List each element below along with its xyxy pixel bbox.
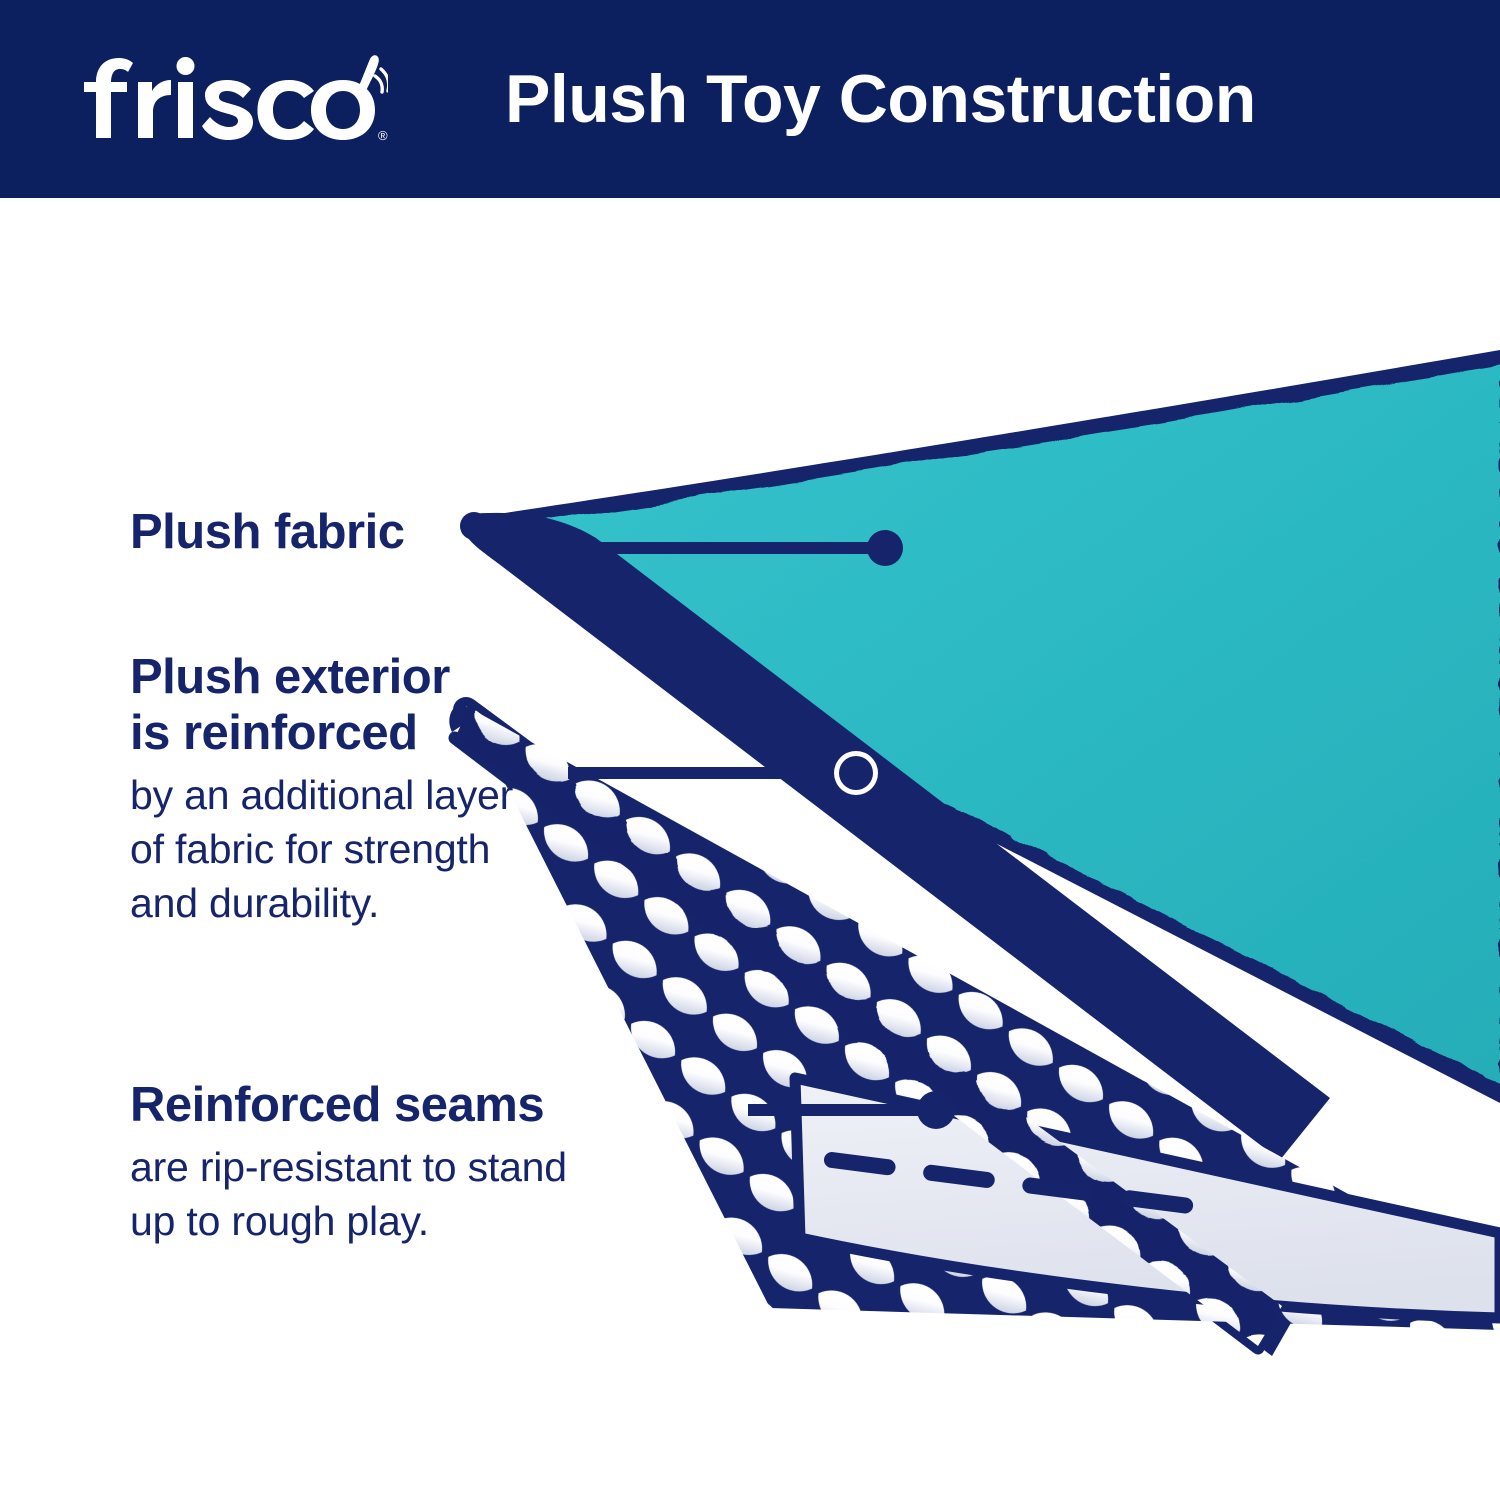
callout-body-line-1: are rip-resistant to stand — [130, 1140, 567, 1194]
callout-body-line-1: by an additional layer — [130, 768, 513, 822]
callout-heading: Reinforced seams — [130, 1078, 567, 1134]
callout-body-line-3: and durability. — [130, 876, 513, 930]
page-title: Plush Toy Construction — [505, 0, 1256, 198]
callout-plush-exterior-reinforced: Plush exterior is reinforced by an addit… — [130, 650, 513, 930]
callout-plush-fabric: Plush fabric — [130, 505, 404, 561]
svg-text:®: ® — [378, 128, 388, 143]
callout-body: are rip-resistant to stand up to rough p… — [130, 1140, 567, 1248]
callout-heading: Plush fabric — [130, 505, 404, 561]
frisco-logo: ® — [78, 50, 388, 150]
callout-body-line-2: of fabric for strength — [130, 822, 513, 876]
header-bar: ® Plush Toy Construction — [0, 0, 1500, 198]
callout-reinforced-seams: Reinforced seams are rip-resistant to st… — [130, 1078, 567, 1248]
callout-heading-line-1: Plush exterior — [130, 650, 513, 706]
callout-body: by an additional layer of fabric for str… — [130, 768, 513, 930]
callout-body-line-2: up to rough play. — [130, 1194, 567, 1248]
infographic-page: ® Plush Toy Construction — [0, 0, 1500, 1500]
callout-heading-line-2: is reinforced — [130, 706, 513, 762]
